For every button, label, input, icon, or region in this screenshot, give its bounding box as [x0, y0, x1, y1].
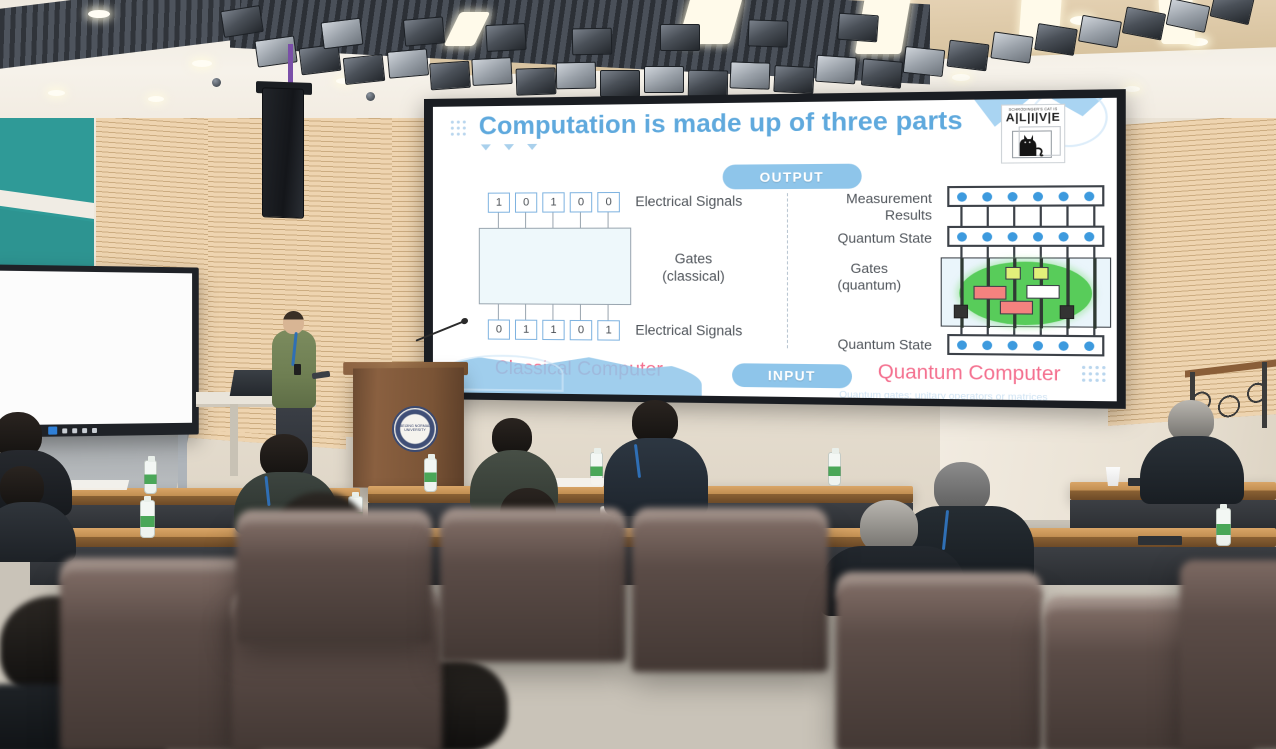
screen-surface: Computation is made up of three parts SC…: [433, 98, 1117, 402]
phone-device: [1138, 536, 1182, 545]
bit-cell: 0: [488, 319, 510, 339]
triangle-bullets-icon: [481, 144, 537, 151]
slide-title: Computation is made up of three parts: [479, 105, 1027, 141]
quantum-state-register-top: [947, 226, 1104, 247]
bit-cell: 0: [515, 192, 537, 212]
quantum-gates-footnote: Quantum gates: unitary operators or matr…: [839, 389, 1047, 401]
whiteboard-screen[interactable]: [0, 271, 192, 426]
black-cat-icon: [1013, 133, 1046, 159]
side-table-leg: [230, 404, 238, 476]
bit-cell: 1: [488, 193, 510, 213]
auditorium-seat: [440, 522, 626, 662]
label-quantum-gates: Gates (quantum): [807, 260, 932, 294]
quantum-gate-yellow: [1005, 267, 1020, 280]
classical-top-bits: 1 0 1 0 0: [488, 192, 620, 213]
presenter-badge: [294, 364, 301, 375]
downlight: [952, 74, 970, 81]
auditorium-seat: [836, 586, 1042, 749]
downlight: [88, 10, 110, 18]
water-bottle: [1216, 508, 1231, 546]
paper-sheet: [69, 480, 129, 490]
projection-screen: Computation is made up of three parts SC…: [424, 89, 1126, 409]
quantum-gate-pink: [1000, 301, 1033, 315]
label-classical-gates: Gates (classical): [631, 251, 756, 286]
quantum-gate-pink: [973, 286, 1006, 300]
bit-cell: 1: [515, 320, 537, 340]
quantum-gate-dark: [1060, 305, 1074, 319]
downlight: [48, 90, 65, 96]
line-array-speaker: [262, 87, 304, 218]
quantum-gate-region: [941, 257, 1111, 327]
downlight: [148, 96, 164, 102]
label-electrical-signals-bottom: Electrical Signals: [635, 322, 742, 338]
interactive-whiteboard[interactable]: [0, 264, 199, 437]
bit-cell: 1: [597, 320, 620, 341]
toolbar-icon[interactable]: [62, 428, 67, 433]
auditorium-seat: [236, 524, 432, 644]
bit-cell: 0: [597, 192, 620, 212]
label-quantum-state-top: Quantum State: [807, 230, 932, 246]
downlight: [192, 60, 212, 67]
railing-post: [1262, 362, 1267, 428]
auditorium-seat: [632, 522, 828, 672]
quantum-gate-yellow: [1033, 267, 1049, 280]
presenter-head: [283, 311, 304, 334]
downlight: [1124, 86, 1140, 92]
cat-logo-caption-big: A|L|I|V|E: [1006, 112, 1061, 124]
bit-cell: 1: [542, 320, 564, 340]
toolbar-icon[interactable]: [82, 428, 87, 433]
lecture-hall-scene: Computation is made up of three parts SC…: [0, 0, 1276, 749]
dome-camera-icon: [212, 78, 221, 87]
bit-cell: 0: [570, 192, 592, 212]
cat-box-illustration: [1008, 126, 1059, 162]
dot-grid-icon-bottomright: [1082, 366, 1106, 382]
classical-gates-box: [479, 228, 631, 305]
input-pill: INPUT: [732, 363, 852, 388]
quantum-gate-dark: [954, 305, 968, 319]
auditorium-seat: [1180, 560, 1276, 749]
label-electrical-signals-top: Electrical Signals: [635, 193, 742, 209]
water-bottle: [828, 452, 841, 486]
dome-camera-icon: [366, 92, 375, 101]
water-bottle: [424, 458, 437, 492]
slide-vertical-divider: [787, 193, 788, 348]
toolbar-icon[interactable]: [72, 428, 77, 433]
schrodinger-cat-logo: SCHRÖDINGER'S CAT IS A|L|I|V|E: [1001, 104, 1065, 164]
slide-canvas: Computation is made up of three parts SC…: [433, 98, 1117, 402]
classical-bottom-bits: 0 1 1 0 1: [488, 319, 620, 340]
dot-grid-icon-topleft: [451, 120, 466, 135]
bit-cell: 0: [570, 320, 592, 340]
bit-cell: 1: [542, 192, 564, 212]
pen-tool-icon[interactable]: [48, 426, 57, 434]
auditorium-seat: [60, 572, 260, 749]
paper-sheet: [551, 478, 605, 487]
label-measurement-results: Measurement Results: [807, 190, 932, 223]
quantum-computer-heading: Quantum Computer: [878, 362, 1061, 387]
university-seal: BEIJING NORMAL UNIVERSITY: [392, 406, 438, 452]
quantum-state-register-bottom: [947, 334, 1104, 356]
label-quantum-state-bottom: Quantum State: [807, 336, 932, 353]
water-bottle: [144, 460, 157, 494]
output-pill: OUTPUT: [723, 164, 862, 190]
water-bottle: [140, 500, 155, 538]
measurement-register: [947, 185, 1104, 207]
quantum-gate-white: [1026, 285, 1059, 299]
whiteboard-toolbar[interactable]: [48, 426, 97, 435]
toolbar-icon[interactable]: [92, 427, 97, 432]
